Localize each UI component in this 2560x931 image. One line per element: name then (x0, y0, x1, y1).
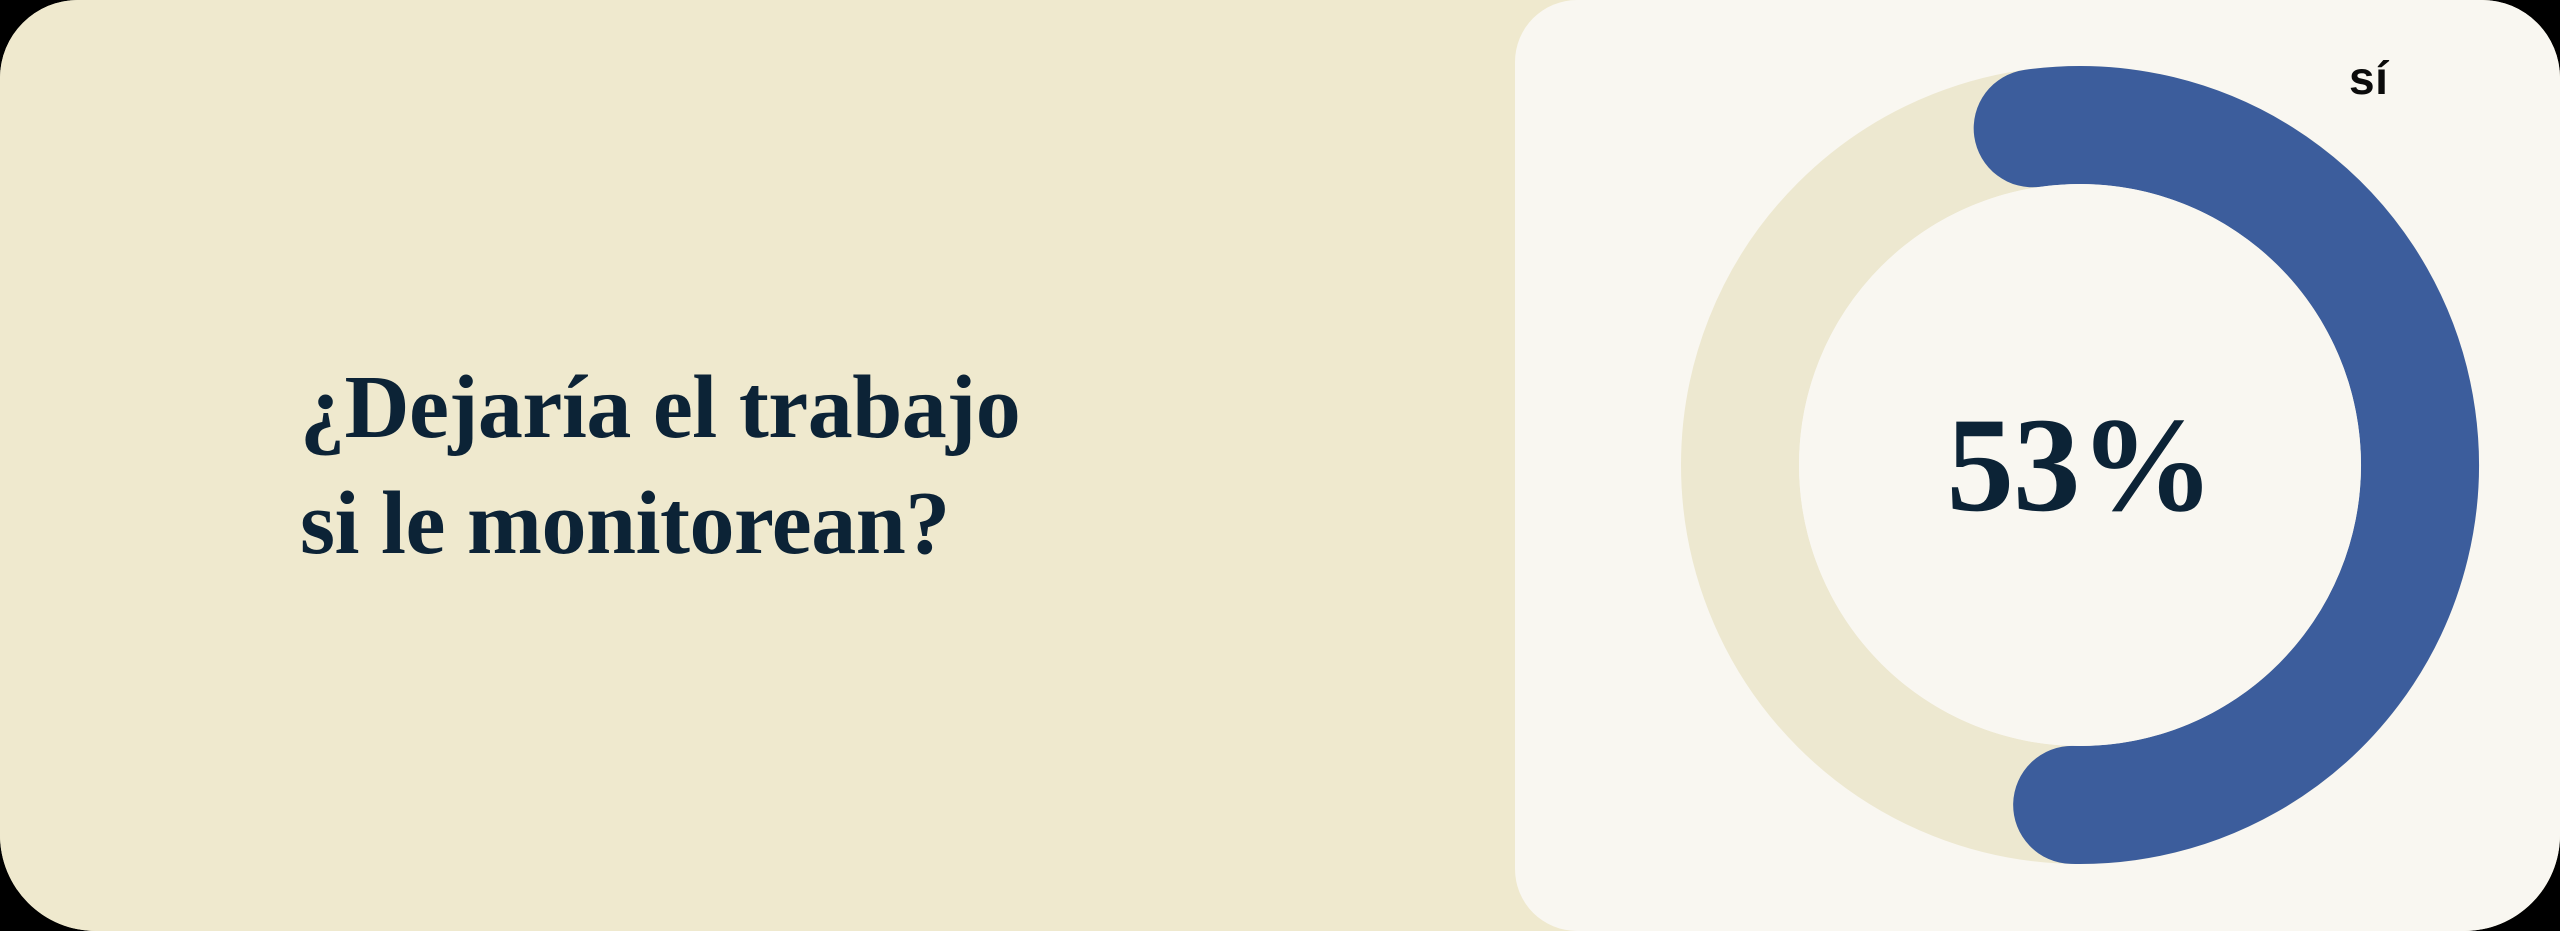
donut-chart: 53% (1665, 50, 2495, 880)
question-panel: ¿Dejaría el trabajo si le monitorean? (0, 0, 1515, 931)
donut-chart-svg (1665, 50, 2495, 880)
page-title: ¿Dejaría el trabajo si le monitorean? (0, 350, 1020, 580)
legend-label-si: sí (2349, 55, 2388, 101)
infographic-card: ¿Dejaría el trabajo si le monitorean? 53… (0, 0, 2560, 931)
donut-hole (1799, 184, 2361, 746)
chart-panel: 53% sí (1515, 0, 2560, 931)
